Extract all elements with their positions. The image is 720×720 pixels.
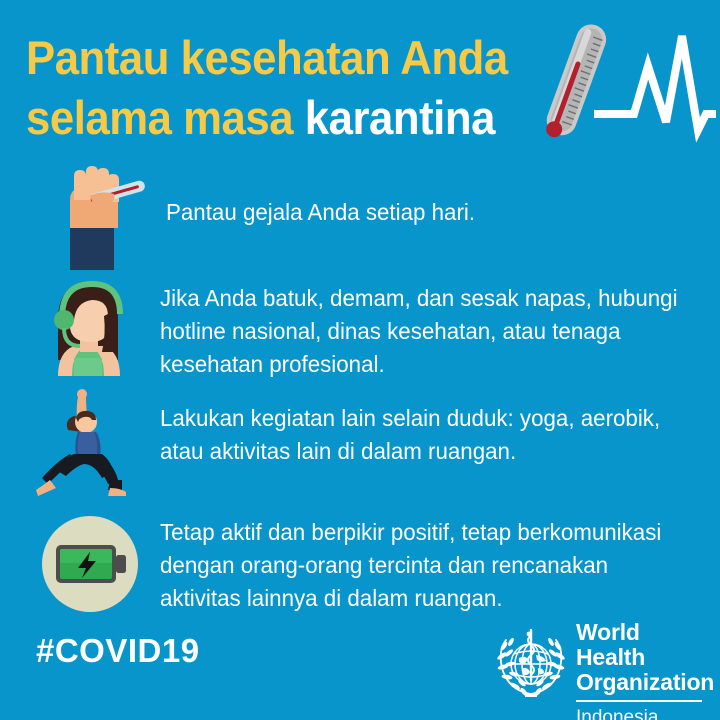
- headline-line-1: Pantau kesehatan Anda: [26, 28, 528, 88]
- list-item-text: Pantau gejala Anda setiap hari.: [166, 196, 684, 229]
- who-name-line-1: World Health: [576, 620, 704, 670]
- who-emblem-icon: [492, 622, 570, 700]
- headline: Pantau kesehatan Anda selama masa karant…: [26, 28, 528, 148]
- who-divider: [576, 700, 702, 702]
- headset-operator-icon: [34, 276, 150, 381]
- who-country-label: Indonesia: [576, 707, 704, 720]
- charged-battery-icon: [34, 512, 150, 621]
- yoga-pose-icon: [34, 386, 150, 503]
- hand-holding-thermometer-icon: [34, 166, 150, 275]
- headline-line-2: selama masa karantina: [26, 88, 528, 148]
- thermometer-heartbeat-icon: [516, 14, 716, 156]
- list-item-text: Tetap aktif dan berpikir positif, tetap …: [160, 516, 678, 615]
- list-item: Jika Anda batuk, demam, dan sesak napas,…: [0, 276, 720, 376]
- headline-line-2-white: karantina: [305, 91, 495, 144]
- who-name-line-2: Organization: [576, 670, 704, 695]
- hashtag-covid19: #COVID19: [36, 632, 200, 670]
- list-item: Pantau gejala Anda setiap hari.: [0, 166, 720, 270]
- poster-canvas: Pantau kesehatan Anda selama masa karant…: [0, 0, 720, 720]
- who-wordmark: World Health Organization Indonesia: [576, 620, 704, 720]
- list-item-text: Lakukan kegiatan lain selain duduk: yoga…: [160, 402, 678, 468]
- headline-line-2-yellow: selama masa: [26, 91, 305, 144]
- who-logo: World Health Organization Indonesia: [492, 620, 702, 706]
- list-item-text: Jika Anda batuk, demam, dan sesak napas,…: [160, 282, 678, 381]
- list-item: Tetap aktif dan berpikir positif, tetap …: [0, 512, 720, 616]
- list-item: Lakukan kegiatan lain selain duduk: yoga…: [0, 386, 720, 498]
